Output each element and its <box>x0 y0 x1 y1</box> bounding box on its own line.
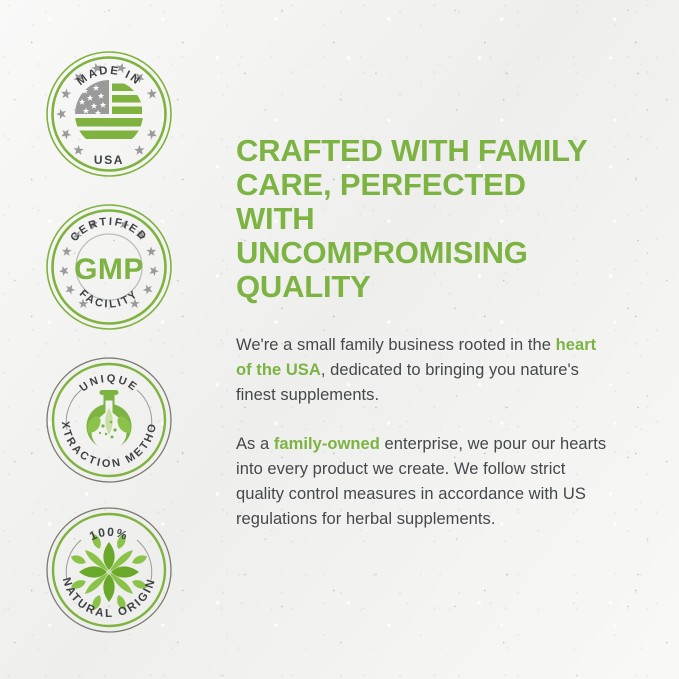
headline-line-1: CRAFTED WITH FAMILY <box>236 133 588 168</box>
headline-line-2: CARE, PERFECTED WITH <box>236 167 526 236</box>
leaf-rosette-icon: 100% NATURAL ORIGIN <box>45 506 173 634</box>
page-title: CRAFTED WITH FAMILY CARE, PERFECTED WITH… <box>236 134 608 304</box>
paragraph-2-segment-1: As a <box>236 435 274 453</box>
headline-line-3: UNCOMPROMISING <box>236 235 528 270</box>
badge-gmp-certified-facility: GMP CERTIFIED FACILITY <box>0 203 218 331</box>
paragraph-2-highlight: family-owned <box>274 435 380 453</box>
badge-natural-origin: 100% NATURAL ORIGIN <box>0 506 218 634</box>
badge-top-label: MADE IN <box>75 65 143 88</box>
badge-top-label: 100% <box>87 525 130 543</box>
flask-graphic <box>87 390 132 450</box>
gmp-text-icon: GMP CERTIFIED FACILITY <box>45 203 173 331</box>
paragraph-1-segment-1: We're a small family business rooted in … <box>236 336 556 354</box>
copy-column: CRAFTED WITH FAMILY CARE, PERFECTED WITH… <box>236 134 608 532</box>
headline-line-4: QUALITY <box>236 269 371 304</box>
badge-center-label: GMP <box>74 253 144 286</box>
badge-bottom-label: USA <box>94 153 124 167</box>
flask-leaf-icon: UNIQUE EXTRACTION METHOD <box>45 356 173 484</box>
intro-paragraph: We're a small family business rooted in … <box>236 333 608 408</box>
quality-paragraph: As a family-owned enterprise, we pour ou… <box>236 432 608 532</box>
usa-flag-icon: MADE IN USA <box>45 50 173 178</box>
flag-graphic <box>75 80 144 139</box>
badge-unique-extraction-method: UNIQUE EXTRACTION METHOD <box>0 356 218 484</box>
badge-bottom-label: FACILITY <box>77 288 141 311</box>
badge-top-label: CERTIFIED <box>68 216 149 244</box>
badge-made-in-usa: MADE IN USA <box>0 50 218 178</box>
certification-badge-column: MADE IN USA <box>0 0 218 679</box>
promo-panel: MADE IN USA <box>0 0 679 679</box>
